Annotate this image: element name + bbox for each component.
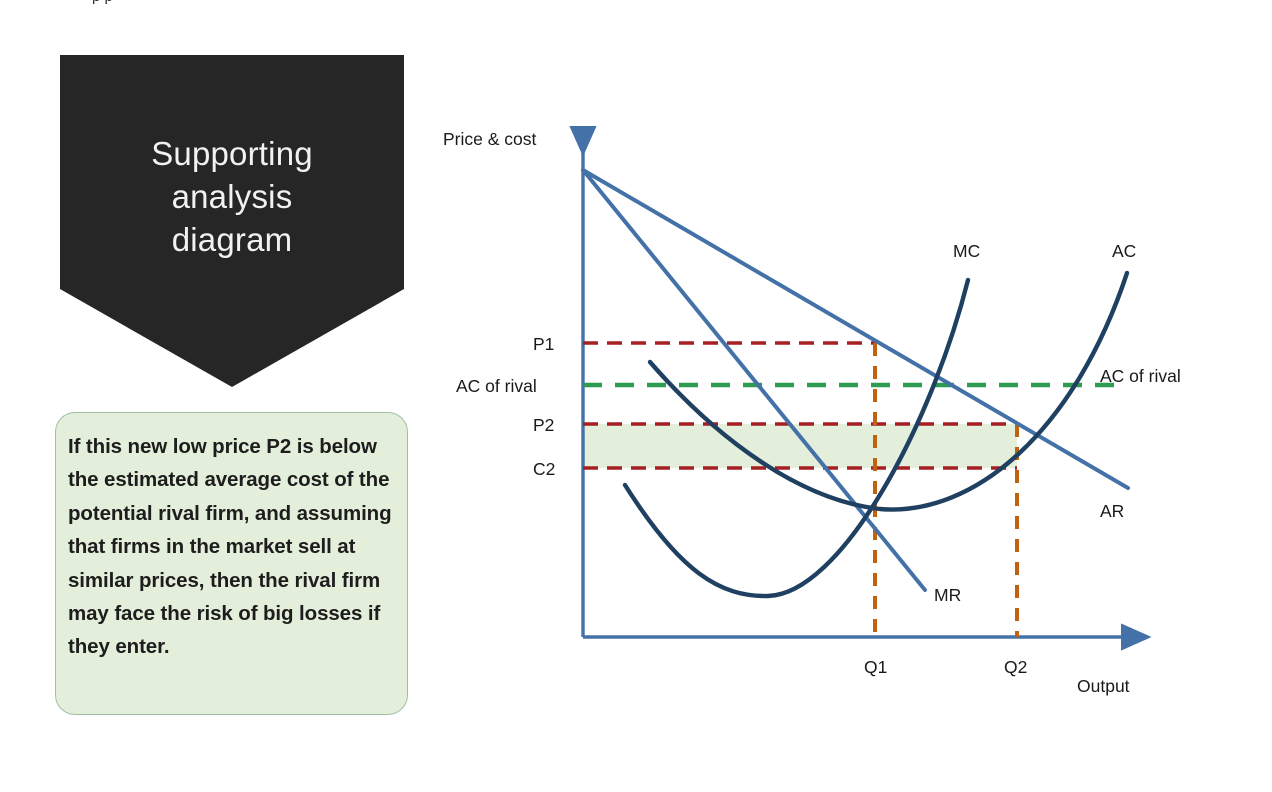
- x-tick-label-q1: Q1: [864, 657, 887, 678]
- mr-curve: [583, 170, 925, 590]
- ar-curve-label: AR: [1100, 501, 1124, 522]
- ac-curve-label: AC: [1112, 241, 1136, 262]
- shaded-margin-band: [583, 424, 1017, 468]
- y-tick-label-c2: C2: [533, 459, 555, 480]
- y-tick-label-p1: P1: [533, 334, 554, 355]
- ac-of-rival-right-label: AC of rival: [1100, 366, 1181, 387]
- y-axis-label: Price & cost: [443, 129, 536, 150]
- mr-curve-label: MR: [934, 585, 961, 606]
- y-tick-label-p2: P2: [533, 415, 554, 436]
- chart-svg: [0, 0, 1272, 792]
- ac-curve: [650, 273, 1127, 510]
- x-axis-label: Output: [1077, 676, 1130, 697]
- economics-diagram: Price & cost Output P1 AC of rival P2 C2…: [0, 0, 1272, 792]
- mc-curve-label: MC: [953, 241, 980, 262]
- y-tick-label-ac-of-rival: AC of rival: [456, 376, 537, 397]
- x-tick-label-q2: Q2: [1004, 657, 1027, 678]
